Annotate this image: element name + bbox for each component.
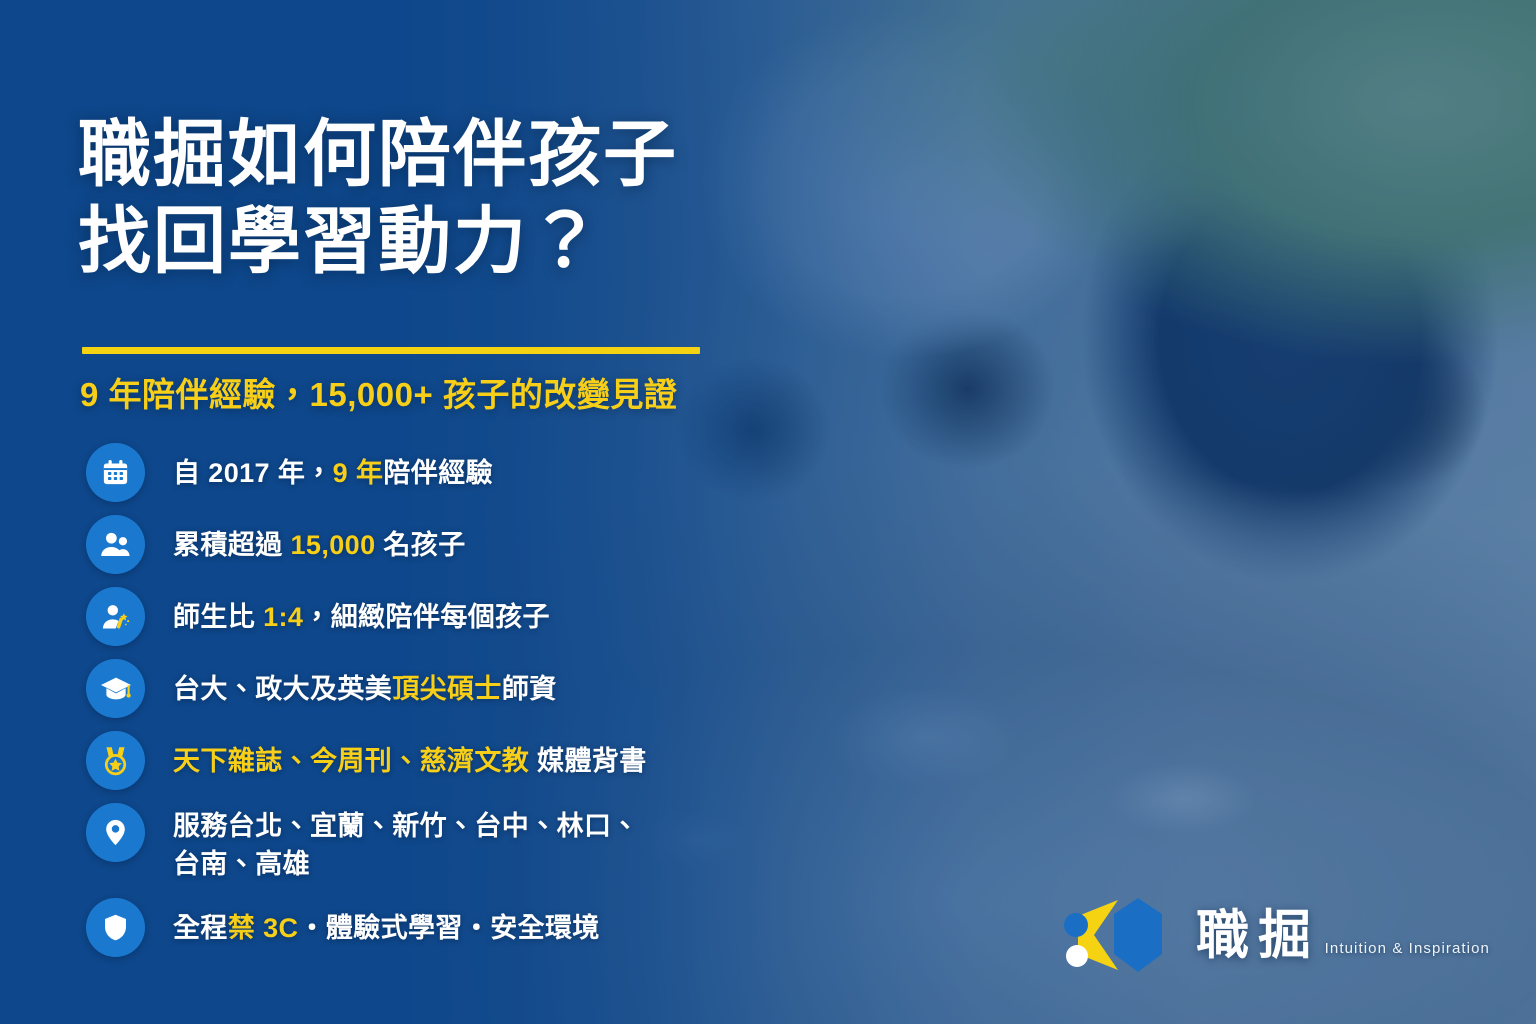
logo-tagline: Intuition & Inspiration xyxy=(1325,940,1490,957)
list-item: 全程禁 3C・體驗式學習・安全環境 xyxy=(86,898,786,957)
feature-list: 自 2017 年，9 年陪伴經驗 累積超過 15,000 名孩子 xyxy=(86,443,786,970)
list-item-label: 天下雜誌、今周刊、慈濟文教 媒體背書 xyxy=(173,731,647,780)
list-item-label: 全程禁 3C・體驗式學習・安全環境 xyxy=(173,898,600,947)
list-item: 自 2017 年，9 年陪伴經驗 xyxy=(86,443,786,502)
list-item: 天下雜誌、今周刊、慈濟文教 媒體背書 xyxy=(86,731,786,790)
shield-icon xyxy=(86,898,145,957)
content-layer: 職掘如何陪伴孩子 找回學習動力？ 9 年陪伴經驗，15,000+ 孩子的改變見證 xyxy=(0,0,1536,1024)
logo-wordmark: 職掘 Intuition & Inspiration xyxy=(1196,909,1490,962)
brand-logo: 職掘 Intuition & Inspiration xyxy=(1064,892,1490,978)
location-pin-icon xyxy=(86,803,145,862)
banner-root: 職掘如何陪伴孩子 找回學習動力？ 9 年陪伴經驗，15,000+ 孩子的改變見證 xyxy=(0,0,1536,1024)
list-item: 服務台北、宜蘭、新竹、台中、林口、 台南、高雄 xyxy=(86,803,786,885)
logo-mark-icon xyxy=(1064,892,1182,978)
page-title: 職掘如何陪伴孩子 找回學習動力？ xyxy=(78,112,678,286)
list-item-label: 台大、政大及英美頂尖碩士師資 xyxy=(173,659,557,708)
list-item: 師生比 1:4，細緻陪伴每個孩子 xyxy=(86,587,786,646)
logo-name-cn: 職掘 xyxy=(1196,906,1320,965)
title-divider xyxy=(82,347,700,354)
people-icon xyxy=(86,515,145,574)
list-item: 累積超過 15,000 名孩子 xyxy=(86,515,786,574)
medal-icon xyxy=(86,731,145,790)
list-item: 台大、政大及英美頂尖碩士師資 xyxy=(86,659,786,718)
subtitle: 9 年陪伴經驗，15,000+ 孩子的改變見證 xyxy=(80,368,677,416)
person-star-icon xyxy=(86,587,145,646)
graduation-cap-icon xyxy=(86,659,145,718)
list-item-label: 服務台北、宜蘭、新竹、台中、林口、 台南、高雄 xyxy=(173,803,639,884)
list-item-label: 師生比 1:4，細緻陪伴每個孩子 xyxy=(173,587,550,636)
list-item-label: 累積超過 15,000 名孩子 xyxy=(173,515,466,564)
list-item-label: 自 2017 年，9 年陪伴經驗 xyxy=(173,443,493,492)
calendar-icon xyxy=(86,443,145,502)
